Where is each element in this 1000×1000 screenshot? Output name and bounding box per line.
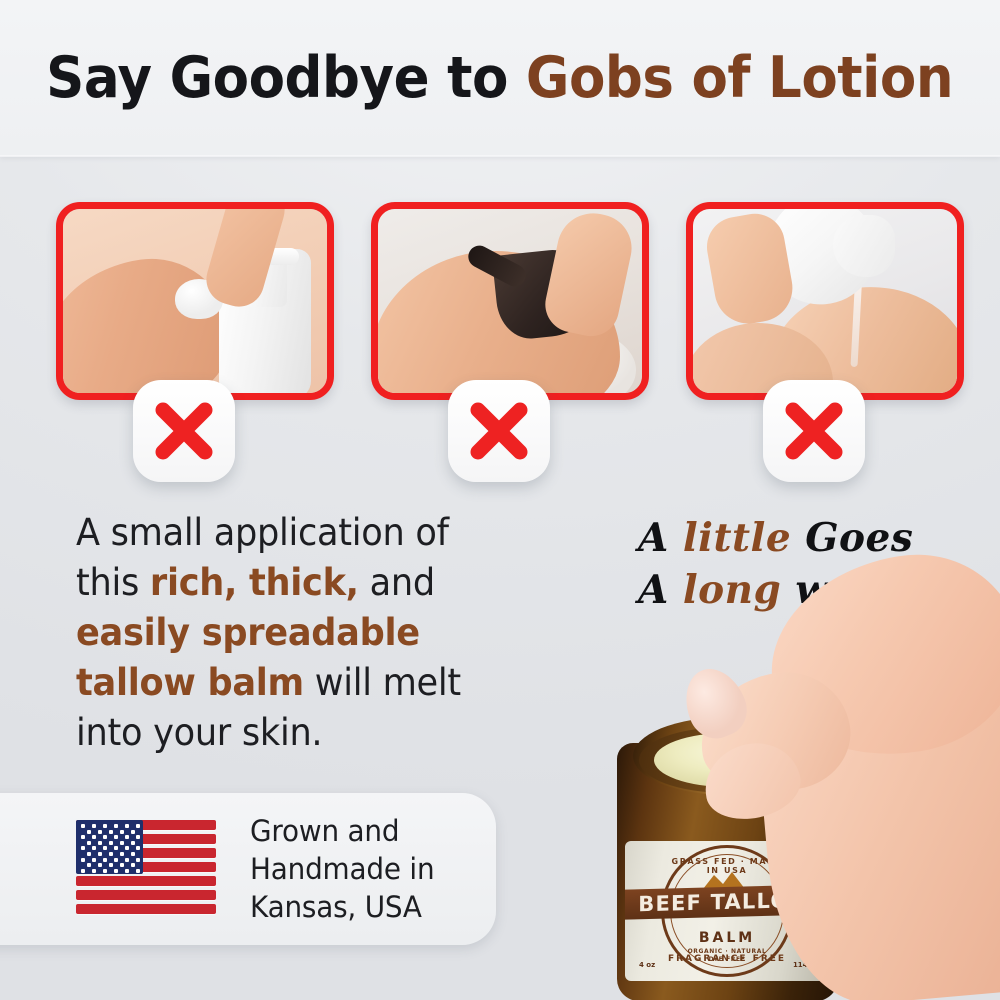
balm-surface [654, 733, 802, 787]
flag-star [120, 841, 124, 845]
card-lotion-pouring [686, 202, 964, 400]
script-l1-highlight: little [683, 515, 791, 561]
headline-dark-part: Say Goodbye to [47, 45, 509, 111]
flag-star [92, 846, 96, 850]
red-x-badge-1 [133, 380, 235, 482]
red-x-icon [133, 380, 235, 482]
pour-bottle-neck [833, 215, 895, 277]
made-in-usa-badge: Grown and Handmade in Kansas, USA [0, 793, 496, 945]
flag-star [120, 852, 124, 856]
flag-star [125, 869, 129, 873]
made-in-usa-text: Grown and Handmade in Kansas, USA [250, 812, 434, 926]
card-lotion-pump-black [371, 202, 649, 400]
flag-star [92, 869, 96, 873]
flag-star [125, 858, 129, 862]
usa-flag-icon [76, 820, 216, 918]
flag-star [103, 835, 107, 839]
flag-star [81, 858, 85, 862]
photo-lotion-pouring [693, 209, 957, 393]
flag-star [103, 869, 107, 873]
flag-star [131, 852, 135, 856]
flag-stripe [76, 890, 216, 900]
label-net-weight-g: 114 g [793, 961, 815, 969]
flag-star [109, 841, 113, 845]
flag-star [81, 824, 85, 828]
body-seg-2: and [359, 561, 435, 604]
script-line-2: A long way [638, 564, 938, 616]
card-lotion-pump-foam [56, 202, 334, 400]
product-jar: GRASS FED · MADE IN USA BALM ORGANIC · N… [609, 701, 846, 1000]
usa-line-2: Handmade in [250, 850, 434, 888]
red-x-icon [448, 380, 550, 482]
flag-star [131, 841, 135, 845]
flag-star [87, 852, 91, 856]
script-l1-a: A [638, 515, 683, 561]
script-line-1: A little Goes [638, 512, 938, 564]
flag-star [114, 835, 118, 839]
flag-star [81, 869, 85, 873]
flag-star [131, 863, 135, 867]
header-band: Say Goodbye to Gobs of Lotion [0, 0, 1000, 156]
flag-star [114, 846, 118, 850]
flag-star [87, 841, 91, 845]
photo-lotion-pump-black [378, 209, 642, 393]
script-l1-b: Goes [791, 515, 913, 561]
flag-stripe [76, 876, 216, 886]
thumb-shape [540, 209, 638, 341]
flag-star [136, 846, 140, 850]
flag-star [92, 824, 96, 828]
red-x-badge-3 [763, 380, 865, 482]
flag-star [114, 869, 118, 873]
flag-star [120, 830, 124, 834]
script-l2-highlight: long [683, 567, 781, 613]
flag-star [81, 835, 85, 839]
flag-star [103, 846, 107, 850]
label-title: BEEF TALLOW [625, 884, 829, 921]
jar-label: GRASS FED · MADE IN USA BALM ORGANIC · N… [625, 841, 829, 981]
flag-star [98, 863, 102, 867]
flag-star [98, 841, 102, 845]
flag-star [136, 858, 140, 862]
body-seg-1-highlight: rich, thick, [150, 561, 359, 604]
flag-star [114, 824, 118, 828]
flag-star [109, 830, 113, 834]
script-tagline: A little Goes A long way [638, 512, 938, 616]
label-arc-bottom: FRAGRANCE FREE [664, 954, 790, 964]
flag-star [109, 863, 113, 867]
body-copy: A small application of this rich, thick,… [76, 508, 523, 758]
red-x-icon [763, 380, 865, 482]
flag-star [136, 869, 140, 873]
flag-star [125, 824, 129, 828]
flag-star [120, 863, 124, 867]
script-l2-b: way [781, 567, 878, 613]
flag-star [136, 824, 140, 828]
flag-star [92, 858, 96, 862]
header-divider [0, 155, 1000, 157]
label-subtitle: BALM [664, 930, 790, 946]
photo-lotion-pump-foam [63, 209, 327, 393]
headline-brown-part: Gobs of Lotion [526, 45, 953, 111]
script-l2-a: A [638, 567, 683, 613]
label-net-weight-oz: 4 oz [639, 961, 655, 969]
flag-star [87, 863, 91, 867]
flag-star [103, 824, 107, 828]
flag-star [87, 830, 91, 834]
label-title-band: BEEF TALLOW [625, 884, 829, 921]
usa-line-1: Grown and [250, 812, 434, 850]
flag-star [98, 830, 102, 834]
flag-star [114, 858, 118, 862]
flag-star [125, 835, 129, 839]
flag-star [98, 852, 102, 856]
flag-canton [76, 820, 143, 874]
page-title: Say Goodbye to Gobs of Lotion [47, 45, 954, 111]
flag-star [109, 852, 113, 856]
red-x-badge-2 [448, 380, 550, 482]
flag-stripe [76, 904, 216, 914]
flag-star [103, 858, 107, 862]
flag-star [125, 846, 129, 850]
promo-canvas: Say Goodbye to Gobs of Lotion [0, 0, 1000, 1000]
usa-line-3: Kansas, USA [250, 888, 434, 926]
flag-star [92, 835, 96, 839]
flag-star [131, 830, 135, 834]
flag-star [81, 846, 85, 850]
flag-star [136, 835, 140, 839]
